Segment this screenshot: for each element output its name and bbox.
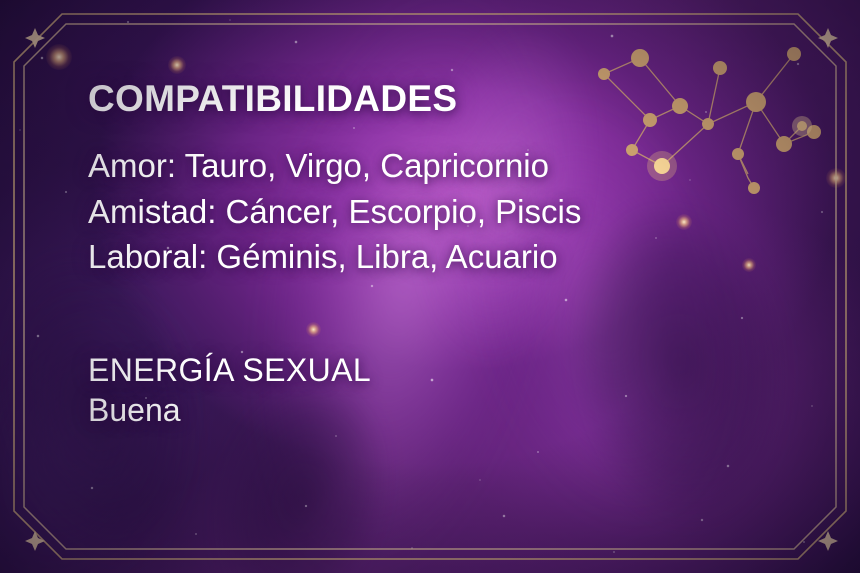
energy-section-heading: ENERGÍA SEXUAL bbox=[88, 350, 800, 390]
page-title: COMPATIBILIDADES bbox=[88, 80, 800, 117]
energy-section: ENERGÍA SEXUAL Buena bbox=[88, 350, 800, 431]
glow-star-upper bbox=[168, 56, 186, 74]
compatibility-line-laboral: Laboral: Géminis, Libra, Acuario bbox=[88, 234, 800, 280]
energy-section-value: Buena bbox=[88, 390, 800, 430]
horoscope-compatibility-card: COMPATIBILIDADES Amor: Tauro, Virgo, Cap… bbox=[0, 0, 860, 573]
glow-star-topleft bbox=[46, 44, 72, 70]
compatibility-list: Amor: Tauro, Virgo, Capricornio Amistad:… bbox=[88, 143, 800, 280]
compatibility-line-amor: Amor: Tauro, Virgo, Capricornio bbox=[88, 143, 800, 189]
compatibility-line-amistad: Amistad: Cáncer, Escorpio, Piscis bbox=[88, 189, 800, 235]
card-content: COMPATIBILIDADES Amor: Tauro, Virgo, Cap… bbox=[88, 80, 800, 430]
